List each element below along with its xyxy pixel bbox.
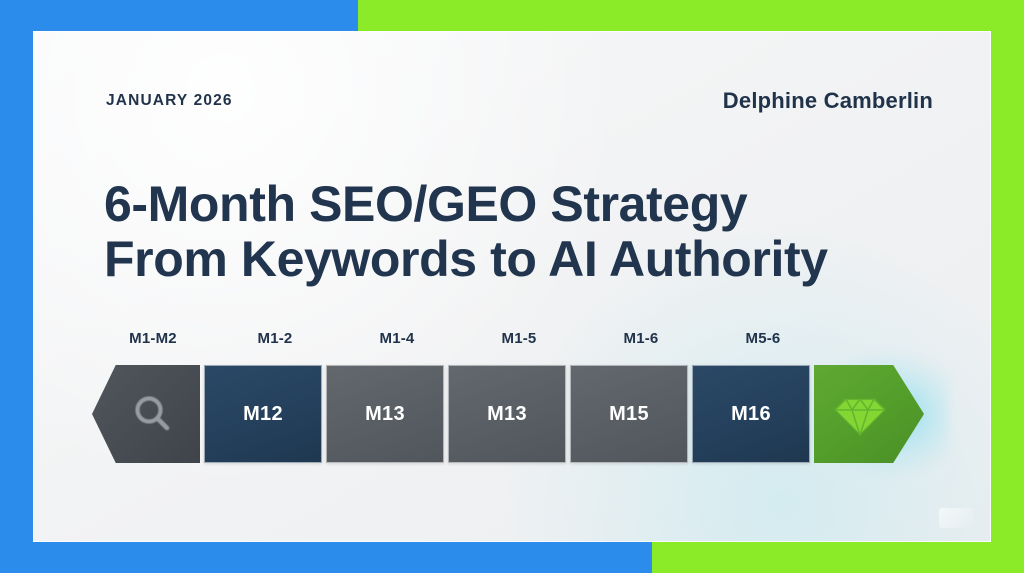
headline-line-1: 6-Month SEO/GEO Strategy xyxy=(104,177,884,232)
date-eyebrow: JANUARY 2026 xyxy=(106,92,233,110)
band-bottom-blue xyxy=(0,542,652,573)
timeline-label-2: M1-4 xyxy=(336,330,458,356)
band-left-blue xyxy=(0,0,33,573)
diamond-icon xyxy=(834,390,886,438)
headline: 6-Month SEO/GEO Strategy From Keywords t… xyxy=(104,177,884,287)
timeline-labels: M1-M2 M1-2 M1-4 M1-5 M1-6 M5-6 xyxy=(92,330,916,356)
band-right-green xyxy=(991,0,1024,573)
timeline-end-wrapper: diamond-icon xyxy=(814,365,924,463)
search-icon xyxy=(130,391,176,437)
band-top-green xyxy=(358,0,1024,31)
timeline: M1-M2 M1-2 M1-4 M1-5 M1-6 M5-6 search-ic… xyxy=(92,330,916,470)
timeline-row: search-icon M12 M13 M13 M15 M16 diamond-… xyxy=(92,365,924,463)
band-top-blue xyxy=(0,0,358,31)
timeline-tile-3[interactable]: M15 xyxy=(570,365,688,463)
timeline-label-5: M5-6 xyxy=(702,330,824,356)
headline-line-2: From Keywords to AI Authority xyxy=(104,232,884,287)
timeline-tile-1[interactable]: M13 xyxy=(326,365,444,463)
timeline-start-chevron[interactable]: search-icon xyxy=(92,365,200,463)
timeline-end-chevron[interactable]: diamond-icon xyxy=(814,365,924,463)
band-bottom-green xyxy=(652,542,1024,573)
timeline-label-3: M1-5 xyxy=(458,330,580,356)
timeline-tile-0[interactable]: M12 xyxy=(204,365,322,463)
timeline-label-0: M1-M2 xyxy=(92,330,214,356)
timeline-tile-4[interactable]: M16 xyxy=(692,365,810,463)
timeline-label-4: M1-6 xyxy=(580,330,702,356)
timeline-tile-2[interactable]: M13 xyxy=(448,365,566,463)
timeline-label-1: M1-2 xyxy=(214,330,336,356)
slide-canvas: JANUARY 2026 Delphine Camberlin 6-Month … xyxy=(0,0,1024,573)
author-name: Delphine Camberlin xyxy=(723,88,933,114)
